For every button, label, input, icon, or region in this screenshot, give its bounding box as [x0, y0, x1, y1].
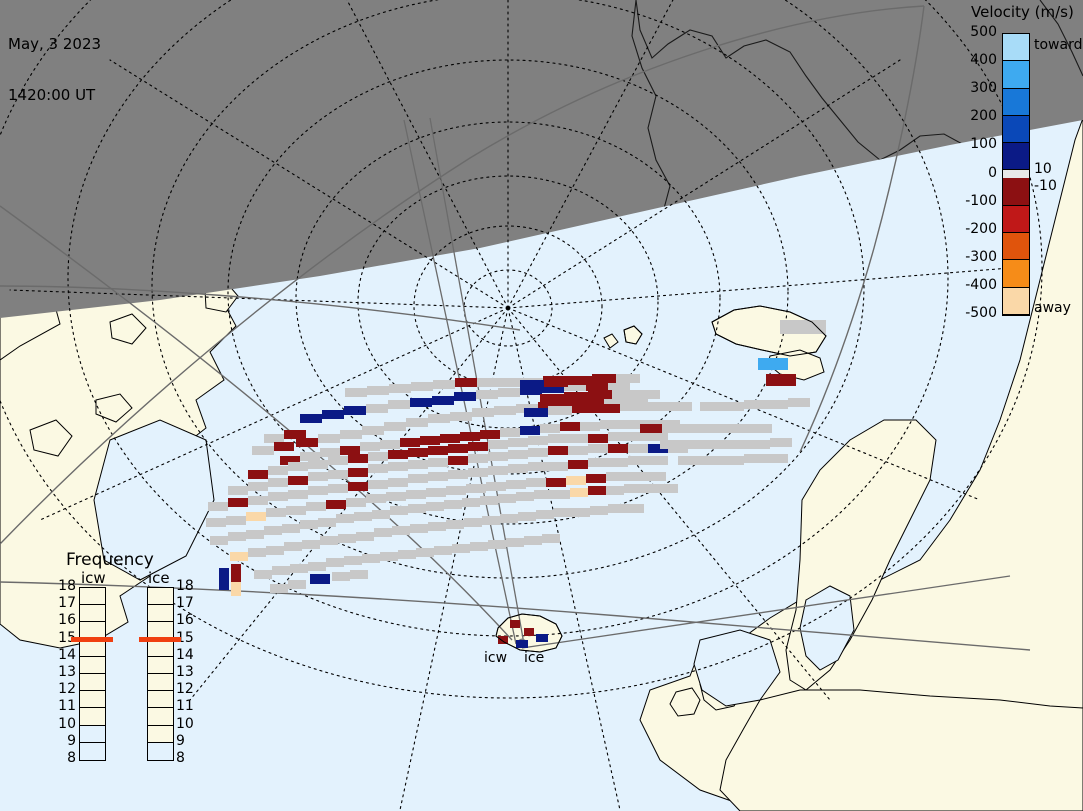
- colorbar-tick-label: 400: [955, 52, 997, 68]
- frequency-tick-label: 10: [176, 716, 198, 732]
- frequency-segment: [80, 691, 105, 708]
- frequency-tick-label: 14: [54, 647, 76, 663]
- colorbar-tick-label: -100: [955, 193, 997, 209]
- frequency-segment: [148, 640, 173, 657]
- colorbar-band: [1003, 178, 1029, 205]
- colorbar-tick-label: -300: [955, 249, 997, 265]
- frequency-segment: [148, 674, 173, 691]
- velocity-colorbar[interactable]: [1002, 33, 1030, 316]
- colorbar-band: [1003, 288, 1029, 315]
- frequency-tick-label: 17: [176, 595, 198, 611]
- frequency-tick-label: 18: [54, 578, 76, 594]
- colorbar-band: [1003, 206, 1029, 233]
- frequency-tick-label: 11: [54, 698, 76, 714]
- colorbar-away-label: away: [1034, 300, 1071, 316]
- frequency-tick-label: 12: [54, 681, 76, 697]
- colorbar-band: [1003, 61, 1029, 88]
- site-label-ice: ice: [524, 650, 544, 666]
- colorbar-tick-label: 300: [955, 80, 997, 96]
- timestamp-block: May, 3 2023 1420:00 UT: [8, 2, 101, 138]
- colorbar-title: Velocity (m/s): [971, 3, 1074, 21]
- frequency-marker-ice: [139, 637, 181, 642]
- colorbar-tick-label: 0: [955, 165, 997, 181]
- frequency-tick-label: 10: [54, 716, 76, 732]
- frequency-bar-ice[interactable]: [147, 587, 174, 761]
- colorbar-band: [1003, 233, 1029, 260]
- screenshot-root: May, 3 2023 1420:00 UT Velocity (m/s) 50…: [0, 0, 1083, 811]
- frequency-segment: [148, 743, 173, 760]
- frequency-segment: [80, 743, 105, 760]
- colorbar-band: [1003, 260, 1029, 287]
- colorbar-positive-ten-label: 10: [1034, 161, 1052, 177]
- frequency-tick-label: 13: [176, 664, 198, 680]
- colorbar-band: [1003, 116, 1029, 143]
- frequency-segment: [80, 588, 105, 605]
- frequency-tick-label: 8: [176, 750, 198, 766]
- colorbar-band: [1003, 89, 1029, 116]
- frequency-tick-label: 11: [176, 698, 198, 714]
- colorbar-tick-label: 200: [955, 108, 997, 124]
- colorbar-tick-label: -200: [955, 221, 997, 237]
- frequency-bar-label-ice: ice: [148, 569, 170, 587]
- frequency-segment: [148, 657, 173, 674]
- frequency-legend-title: Frequency: [66, 550, 154, 570]
- frequency-tick-label: 16: [54, 612, 76, 628]
- frequency-segment: [148, 605, 173, 622]
- frequency-segment: [148, 708, 173, 725]
- frequency-segment: [148, 726, 173, 743]
- colorbar-band: [1003, 170, 1029, 178]
- map-stage[interactable]: May, 3 2023 1420:00 UT Velocity (m/s) 50…: [0, 0, 1083, 811]
- frequency-tick-label: 9: [176, 733, 198, 749]
- colorbar-band: [1003, 143, 1029, 170]
- frequency-bar-icw[interactable]: [79, 587, 106, 761]
- frequency-tick-label: 12: [176, 681, 198, 697]
- frequency-segment: [80, 708, 105, 725]
- frequency-marker-icw: [71, 637, 113, 642]
- frequency-tick-label: 8: [54, 750, 76, 766]
- frequency-segment: [80, 640, 105, 657]
- colorbar-toward-label: toward: [1034, 37, 1082, 53]
- timestamp-date: May, 3 2023: [8, 36, 101, 53]
- colorbar-tick-label: -500: [955, 305, 997, 321]
- colorbar-negative-ten-label: -10: [1034, 178, 1057, 194]
- colorbar-tick-label: 100: [955, 136, 997, 152]
- frequency-tick-label: 13: [54, 664, 76, 680]
- colorbar-tick-label: 500: [955, 24, 997, 40]
- frequency-segment: [148, 691, 173, 708]
- colorbar-band: [1003, 34, 1029, 61]
- frequency-segment: [80, 605, 105, 622]
- frequency-tick-label: 9: [54, 733, 76, 749]
- frequency-segment: [148, 588, 173, 605]
- site-label-icw: icw: [484, 650, 507, 666]
- frequency-tick-label: 18: [176, 578, 198, 594]
- timestamp-time: 1420:00 UT: [8, 87, 101, 104]
- colorbar-tick-label: -400: [955, 277, 997, 293]
- frequency-tick-label: 17: [54, 595, 76, 611]
- frequency-bar-label-icw: icw: [81, 569, 106, 587]
- frequency-segment: [80, 657, 105, 674]
- frequency-segment: [80, 726, 105, 743]
- frequency-segment: [80, 674, 105, 691]
- frequency-tick-label: 14: [176, 647, 198, 663]
- frequency-tick-label: 16: [176, 612, 198, 628]
